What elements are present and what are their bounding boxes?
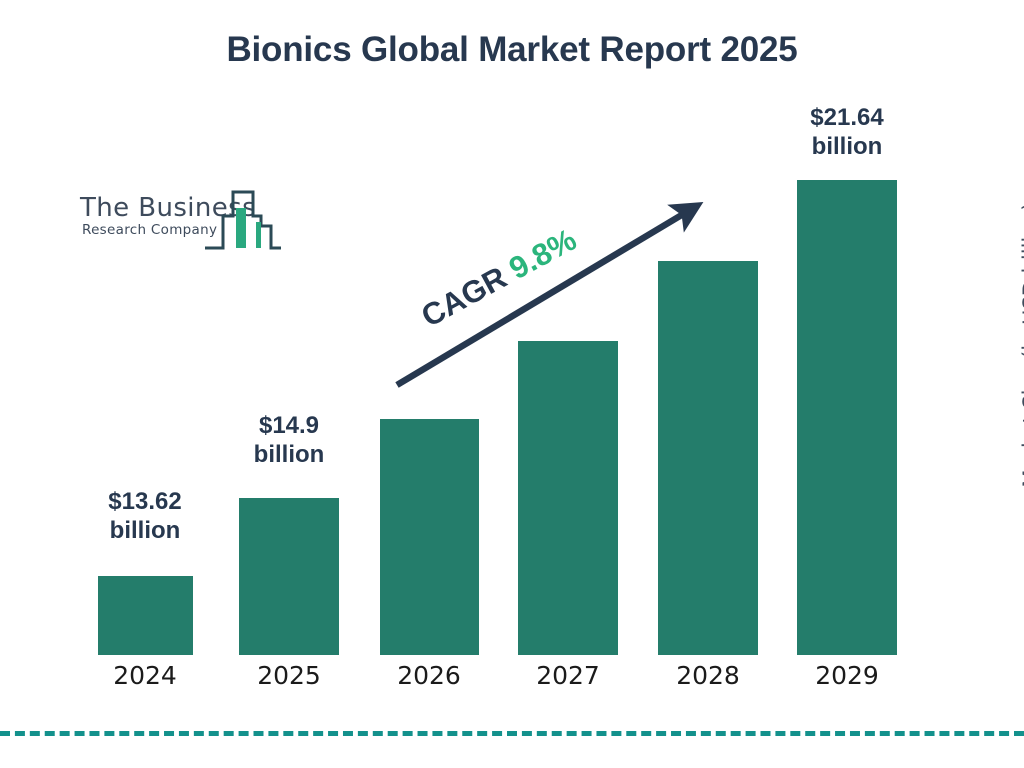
bar-value-2024-unit: billion — [55, 516, 235, 545]
bar-value-2029: $21.64 billion — [757, 103, 937, 162]
bar-2026 — [380, 419, 479, 655]
x-tick-2026: 2026 — [369, 661, 489, 690]
footer-divider — [0, 731, 1024, 736]
x-tick-2024: 2024 — [85, 661, 205, 690]
bar-chart-logo-icon — [203, 186, 283, 254]
x-tick-2027: 2027 — [508, 661, 628, 690]
the-business-research-company-logo: The Business Research Company — [78, 186, 283, 254]
bar-value-2025: $14.9 billion — [199, 411, 379, 470]
bar-2029 — [797, 180, 897, 655]
bar-value-2024: $13.62 billion — [55, 487, 235, 546]
chart-canvas: Bionics Global Market Report 2025 The Bu… — [0, 0, 1024, 768]
bar-value-2029-amount: $21.64 — [757, 103, 937, 132]
logo-text-secondary: Research Company — [82, 222, 217, 238]
growth-trend-arrow-icon — [380, 185, 720, 400]
x-tick-2029: 2029 — [787, 661, 907, 690]
bar-value-2025-unit: billion — [199, 440, 379, 469]
y-axis-label: Market Size (in USD billion) — [1019, 195, 1024, 495]
bar-2024 — [98, 576, 193, 655]
bar-value-2029-unit: billion — [757, 132, 937, 161]
page-title: Bionics Global Market Report 2025 — [0, 30, 1024, 70]
bar-value-2025-amount: $14.9 — [199, 411, 379, 440]
bar-2025 — [239, 498, 339, 655]
x-tick-2028: 2028 — [648, 661, 768, 690]
x-tick-2025: 2025 — [229, 661, 349, 690]
bar-value-2024-amount: $13.62 — [55, 487, 235, 516]
